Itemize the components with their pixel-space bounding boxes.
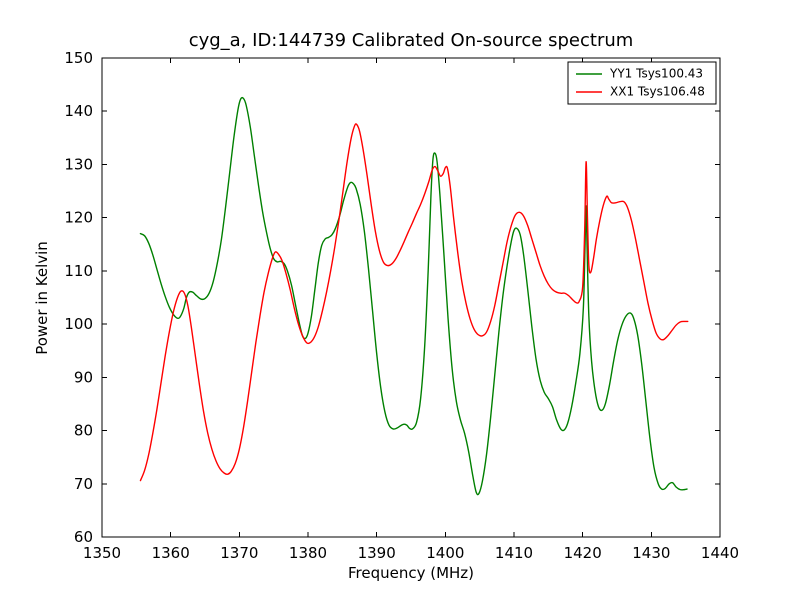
x-tick-label: 1420 [564,544,602,562]
x-tick-label: 1380 [289,544,327,562]
y-tick-label: 60 [74,528,93,546]
y-tick-label: 90 [74,368,93,386]
spectrum-figure: cyg_a, ID:144739 Calibrated On-source sp… [0,0,800,600]
chart-title: cyg_a, ID:144739 Calibrated On-source sp… [189,30,634,51]
y-axis-title: Power in Kelvin [33,241,51,355]
y-tick-label: 150 [64,49,93,67]
x-tick-label: 1430 [632,544,670,562]
legend[interactable]: YY1 Tsys100.43XX1 Tsys106.48 [568,62,716,104]
x-tick-label: 1360 [152,544,190,562]
y-tick-label: 120 [64,209,93,227]
x-tick-label: 1400 [426,544,464,562]
y-tick-label: 70 [74,475,93,493]
x-tick-label: 1390 [358,544,396,562]
y-tick-label: 100 [64,315,93,333]
spectrum-plot: cyg_a, ID:144739 Calibrated On-source sp… [0,0,800,600]
y-tick-label: 80 [74,422,93,440]
x-axis-title: Frequency (MHz) [348,564,474,582]
legend-label-yy1: YY1 Tsys100.43 [609,67,703,81]
legend-label-xx1: XX1 Tsys106.48 [610,85,705,99]
x-tick-label: 1350 [83,544,121,562]
y-tick-label: 110 [64,262,93,280]
x-tick-label: 1370 [220,544,258,562]
plot-area [102,58,720,537]
x-tick-label: 1440 [701,544,739,562]
x-tick-label: 1410 [495,544,533,562]
y-tick-label: 140 [64,102,93,120]
y-tick-label: 130 [64,155,93,173]
